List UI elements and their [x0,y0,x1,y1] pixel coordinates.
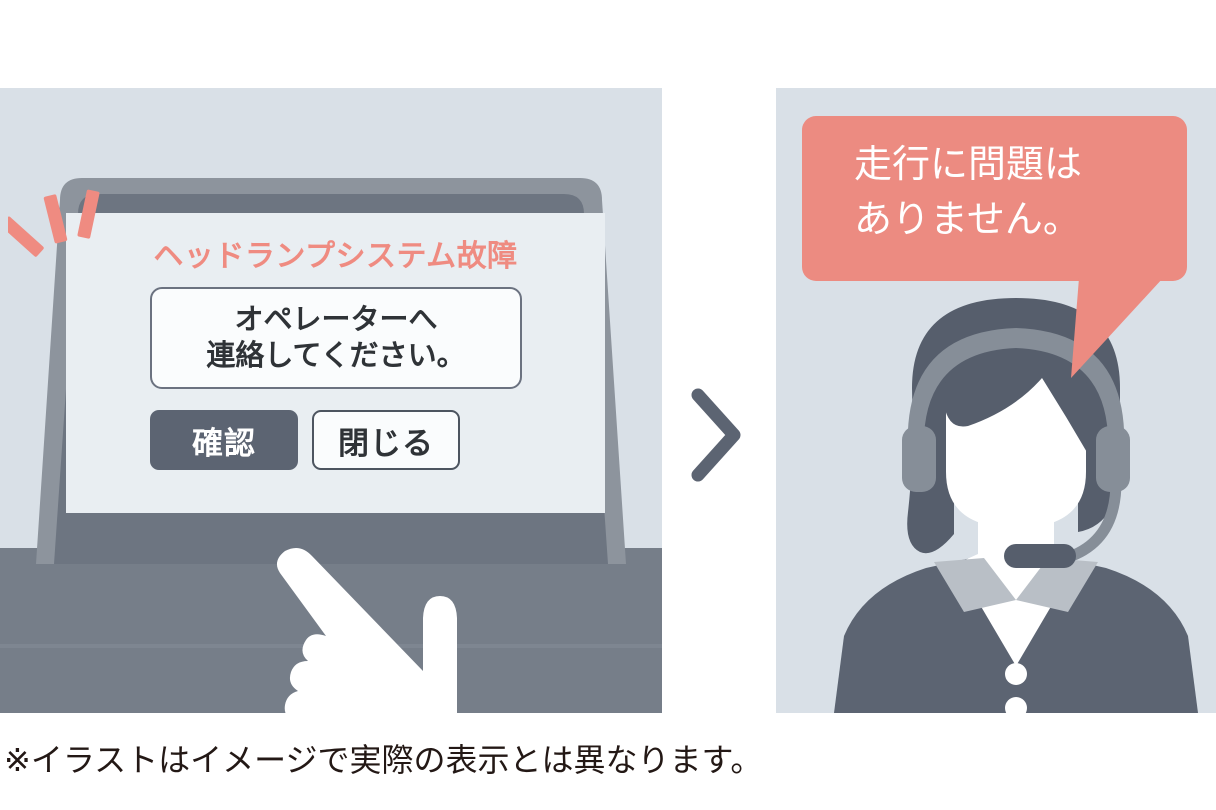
chevron-right-icon [686,385,746,485]
left-panel-vehicle-display: ヘッドランプシステム故障 オペレーターへ 連絡してください。 確認 閉じる [0,88,662,713]
disclaimer-caption: ※イラストはイメージで実際の表示とは異なります。 [4,735,762,781]
speech-line-2: ありません。 [854,193,1187,248]
right-panel-operator: 走行に問題は ありません。 [776,88,1216,713]
message-line-2: 連絡してください。 [206,339,465,373]
close-button[interactable]: 閉じる [312,410,460,470]
speech-line-1: 走行に問題は [854,138,1187,193]
message-line-1: オペレーターへ [234,303,437,337]
display-screen: ヘッドランプシステム故障 オペレーターへ 連絡してください。 確認 閉じる [66,213,605,513]
display-button-row: 確認 閉じる [66,410,605,482]
speech-bubble: 走行に問題は ありません。 [802,116,1187,281]
display-title: ヘッドランプシステム故障 [66,231,605,275]
pointing-hand-icon [250,528,570,713]
speech-bubble-tail [1051,278,1171,383]
illustration-stage: ヘッドランプシステム故障 オペレーターへ 連絡してください。 確認 閉じる [0,0,1216,810]
display-message-box: オペレーターへ 連絡してください。 [150,287,522,389]
sparkle-alert-icon [8,186,118,276]
confirm-button[interactable]: 確認 [150,410,298,470]
